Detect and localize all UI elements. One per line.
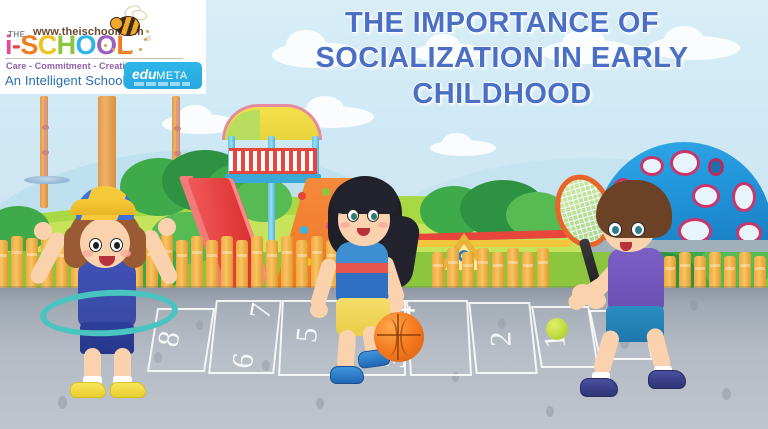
k1-shoe-right bbox=[110, 382, 146, 398]
cloud-7 bbox=[430, 140, 496, 156]
edumeta-edu: edu bbox=[132, 66, 156, 82]
basketball-line bbox=[380, 318, 398, 356]
k1-hand-left bbox=[34, 222, 52, 240]
k1-pupil-left bbox=[93, 242, 99, 249]
swing-seat-blue bbox=[24, 176, 70, 184]
logo-brand-letter-5: O bbox=[76, 32, 96, 59]
logo-subtitle: An Intelligent School by bbox=[5, 73, 143, 88]
tennis-ball bbox=[546, 318, 568, 340]
k3-pupil-left bbox=[612, 226, 619, 234]
edumeta-underbar bbox=[134, 82, 190, 86]
title-line-1: THE IMPORTANCE OF bbox=[252, 6, 752, 41]
logo-brand-letter-4: H bbox=[57, 32, 76, 59]
k2-bangs bbox=[332, 180, 398, 214]
bee-head bbox=[110, 17, 123, 30]
k2-pupil-right bbox=[371, 213, 377, 220]
bee-trail-dot bbox=[121, 50, 124, 53]
bee-icon bbox=[108, 6, 148, 38]
logo-brand-letter-0: i bbox=[5, 32, 12, 59]
climbing-hold-1 bbox=[298, 192, 306, 200]
bee-trail-dot bbox=[130, 50, 133, 53]
bee-trail-dot bbox=[144, 38, 147, 41]
k2-pupil-left bbox=[351, 213, 357, 220]
k2-shoe-left bbox=[330, 366, 364, 384]
k3-shirt bbox=[608, 248, 664, 312]
k1-cap-brim bbox=[70, 199, 136, 215]
k1-pupil-right bbox=[114, 242, 120, 249]
k2-cheek-right bbox=[378, 222, 388, 228]
edumeta-partner-logo[interactable]: eduMETA bbox=[124, 62, 202, 89]
swing-chain-1 bbox=[44, 100, 47, 178]
playstructure-railing bbox=[229, 148, 317, 174]
dome-hole-5 bbox=[692, 184, 720, 208]
school-logo-card[interactable]: THE www.theischool.com i-SCHOOL ® Care -… bbox=[0, 0, 206, 94]
edumeta-label: eduMETA bbox=[132, 66, 188, 82]
logo-divider bbox=[5, 58, 183, 59]
bee-trail-dot bbox=[112, 48, 115, 51]
pavement-speck bbox=[722, 388, 731, 400]
bee-trail-dot bbox=[146, 30, 149, 33]
dome-hole-2 bbox=[640, 156, 664, 176]
dome-hole-4 bbox=[708, 158, 724, 176]
k3-pupil-right bbox=[635, 226, 642, 234]
hopscotch-number: 2 bbox=[484, 331, 519, 347]
logo-brand-letter-1: - bbox=[12, 32, 20, 59]
k3-hand-right bbox=[586, 292, 606, 309]
logo-tagline: Care - Commitment - Creativity bbox=[6, 61, 141, 71]
title-line-2: SOCIALIZATION IN EARLY bbox=[252, 41, 752, 76]
pavement-speck bbox=[690, 300, 698, 311]
k1-hand-right bbox=[158, 218, 176, 236]
logo-brand-letter-3: C bbox=[38, 32, 57, 59]
logo-brand-letter-2: S bbox=[20, 32, 37, 59]
pavement-speck bbox=[316, 398, 324, 409]
poster-title: THE IMPORTANCE OF SOCIALIZATION IN EARLY… bbox=[252, 6, 752, 112]
pavement-speck bbox=[546, 406, 554, 417]
basketball bbox=[374, 312, 424, 362]
k3-shoe-left bbox=[580, 378, 618, 397]
poster-canvas: 8 7 6 5 4 3 2 1 bbox=[0, 0, 768, 429]
k1-shoe-left bbox=[70, 382, 106, 398]
bee-trail-dot bbox=[139, 48, 142, 51]
k2-cheek-left bbox=[340, 222, 350, 228]
dome-hole-3 bbox=[670, 150, 700, 176]
edumeta-meta: META bbox=[156, 70, 187, 82]
k2-hand-left bbox=[310, 302, 328, 318]
climbing-hold-2 bbox=[322, 188, 330, 196]
k1-cheek-right bbox=[120, 250, 131, 257]
dome-hole-6 bbox=[732, 182, 756, 212]
basketball-line bbox=[400, 318, 418, 356]
k2-shirt bbox=[336, 242, 388, 304]
k1-cheek-left bbox=[82, 250, 93, 257]
k3-shoe-right bbox=[648, 370, 686, 389]
climbing-hold-3 bbox=[300, 226, 308, 234]
title-line-3: CHILDHOOD bbox=[252, 77, 752, 112]
bee-trail-dot bbox=[104, 44, 107, 47]
pavement-speck bbox=[58, 396, 67, 409]
